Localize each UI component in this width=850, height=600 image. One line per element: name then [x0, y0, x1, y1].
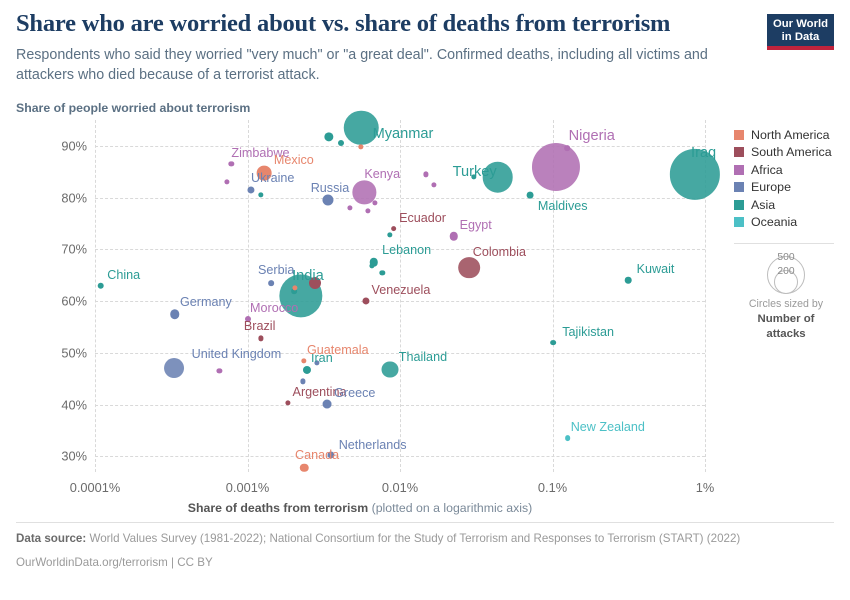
- data-point-brazil[interactable]: [258, 336, 263, 341]
- size-legend-caption: Circles sized by: [734, 298, 838, 311]
- data-point-unlabeled-16[interactable]: [309, 277, 321, 289]
- data-point-unlabeled-21[interactable]: [217, 368, 222, 373]
- legend-item-oceania[interactable]: Oceania: [734, 215, 846, 229]
- chart-header: Share who are worried about vs. share of…: [16, 10, 766, 86]
- x-axis-tick-label: 0.001%: [226, 480, 269, 495]
- data-point-unlabeled-14[interactable]: [380, 270, 385, 275]
- data-point-canada[interactable]: [300, 464, 308, 472]
- legend-item-africa[interactable]: Africa: [734, 163, 846, 177]
- data-point-unlabeled-4[interactable]: [224, 180, 229, 185]
- data-point-maldives[interactable]: [526, 192, 533, 199]
- data-point-unlabeled-3[interactable]: [358, 144, 363, 149]
- footer-link[interactable]: OurWorldinData.org/terrorism | CC BY: [16, 555, 776, 572]
- x-gridline: [95, 120, 96, 472]
- x-axis-title: Share of deaths from terrorism (plotted …: [0, 501, 720, 515]
- data-point-unlabeled-10[interactable]: [431, 182, 436, 187]
- footer-divider: [16, 522, 834, 523]
- y-axis-tick-label: 80%: [61, 190, 87, 205]
- legend-item-asia[interactable]: Asia: [734, 198, 846, 212]
- data-label-egypt: Egypt: [460, 218, 492, 232]
- data-point-germany[interactable]: [170, 309, 180, 319]
- data-point-egypt[interactable]: [449, 232, 457, 240]
- size-legend-value-inner: 200: [777, 266, 794, 277]
- data-point-unlabeled-1[interactable]: [324, 132, 333, 141]
- x-gridline: [400, 120, 401, 472]
- data-point-tajikistan[interactable]: [550, 340, 556, 346]
- y-axis-tick-label: 90%: [61, 138, 87, 153]
- data-label-russia: Russia: [311, 181, 350, 195]
- data-label-mexico: Mexico: [274, 153, 314, 167]
- data-label-greece: Greece: [334, 386, 375, 400]
- y-axis-tick-label: 60%: [61, 294, 87, 309]
- data-point-zimbabwe[interactable]: [229, 161, 234, 166]
- logo-line-1: Our World: [767, 18, 834, 31]
- data-label-new-zealand: New Zealand: [571, 420, 645, 434]
- page-title: Share who are worried about vs. share of…: [16, 10, 766, 38]
- data-point-turkey[interactable]: [482, 162, 513, 193]
- y-axis-tick-label: 70%: [61, 242, 87, 257]
- size-legend-metric-line1: Number of: [734, 312, 838, 326]
- y-axis-title: Share of people worried about terrorism: [16, 101, 250, 115]
- data-point-unlabeled-12[interactable]: [387, 232, 392, 237]
- legend-swatch-icon: [734, 147, 744, 157]
- data-label-kenya: Kenya: [364, 167, 400, 181]
- owid-logo[interactable]: Our World in Data: [767, 14, 834, 50]
- data-label-serbia: Serbia: [258, 263, 294, 277]
- legend-swatch-icon: [734, 130, 744, 140]
- x-axis-tick-label: 0.1%: [538, 480, 567, 495]
- data-point-unlabeled-11[interactable]: [564, 146, 570, 152]
- data-source-text: World Values Survey (1981-2022); Nationa…: [89, 532, 740, 545]
- data-point-unlabeled-19[interactable]: [300, 379, 305, 384]
- data-point-unlabeled-2[interactable]: [338, 140, 344, 146]
- data-label-myanmar: Myanmar: [373, 126, 434, 142]
- legend-item-label: Oceania: [751, 215, 797, 229]
- data-label-colombia: Colombia: [473, 245, 526, 259]
- y-axis-tick-label: 50%: [61, 345, 87, 360]
- data-label-thailand: Thailand: [399, 350, 447, 364]
- data-point-ecuador[interactable]: [391, 226, 397, 232]
- data-point-new-zealand[interactable]: [565, 436, 571, 442]
- data-label-nigeria: Nigeria: [569, 128, 615, 144]
- chart-subtitle: Respondents who said they worried "very …: [16, 45, 731, 86]
- x-axis-title-note: (plotted on a logarithmic axis): [372, 501, 533, 515]
- x-axis-tick-label: 0.0001%: [70, 480, 121, 495]
- logo-line-2: in Data: [767, 31, 834, 44]
- data-point-morocco[interactable]: [245, 316, 251, 322]
- legend-item-label: Asia: [751, 198, 775, 212]
- x-axis-tick-label: 1%: [696, 480, 715, 495]
- data-point-myanmar[interactable]: [344, 111, 379, 146]
- data-point-kuwait[interactable]: [625, 277, 632, 284]
- data-point-mexico[interactable]: [256, 165, 271, 180]
- continent-legend: North AmericaSouth AmericaAfricaEuropeAs…: [734, 128, 846, 232]
- data-point-iran[interactable]: [303, 365, 311, 373]
- data-point-unlabeled-9[interactable]: [423, 172, 428, 177]
- data-point-russia[interactable]: [322, 195, 333, 206]
- legend-item-label: South America: [751, 145, 832, 159]
- data-point-china[interactable]: [97, 282, 104, 289]
- data-point-ukraine[interactable]: [247, 186, 254, 193]
- data-point-unlabeled-20[interactable]: [315, 361, 320, 366]
- data-point-united-kingdom[interactable]: [165, 359, 185, 379]
- size-legend: 500 200 Circles sized by Number of attac…: [734, 252, 838, 342]
- data-point-iraq[interactable]: [669, 149, 719, 199]
- y-axis-tick-label: 40%: [61, 397, 87, 412]
- data-label-china: China: [107, 268, 140, 282]
- scatter-plot-area: 30%40%50%60%70%80%90%0.0001%0.001%0.01%0…: [95, 120, 705, 472]
- legend-swatch-icon: [734, 200, 744, 210]
- data-point-thailand[interactable]: [381, 361, 398, 378]
- data-point-nigeria[interactable]: [532, 143, 580, 191]
- data-point-greece[interactable]: [322, 399, 331, 408]
- data-point-unlabeled-7[interactable]: [373, 200, 378, 205]
- x-gridline: [248, 120, 249, 472]
- x-axis-tick-label: 0.01%: [382, 480, 418, 495]
- chart-footer: Data source: World Values Survey (1981-2…: [16, 531, 776, 572]
- data-point-guatemala[interactable]: [301, 358, 306, 363]
- legend-item-europe[interactable]: Europe: [734, 180, 846, 194]
- legend-item-label: North America: [751, 128, 830, 142]
- legend-item-north-america[interactable]: North America: [734, 128, 846, 142]
- legend-item-label: Europe: [751, 180, 791, 194]
- data-label-ecuador: Ecuador: [399, 211, 446, 225]
- data-label-zimbabwe: Zimbabwe: [231, 146, 289, 160]
- data-point-unlabeled-8[interactable]: [366, 208, 371, 213]
- data-label-netherlands: Netherlands: [339, 438, 407, 452]
- data-label-tajikistan: Tajikistan: [562, 325, 614, 339]
- data-label-maldives: Maldives: [538, 199, 588, 213]
- size-legend-metric-line2: attacks: [734, 327, 838, 341]
- x-axis-title-main: Share of deaths from terrorism: [188, 501, 368, 515]
- data-label-kuwait: Kuwait: [637, 262, 675, 276]
- legend-swatch-icon: [734, 182, 744, 192]
- size-legend-circles: 500 200: [734, 252, 838, 294]
- legend-swatch-icon: [734, 165, 744, 175]
- data-point-unlabeled-13[interactable]: [471, 174, 476, 179]
- legend-swatch-icon: [734, 217, 744, 227]
- data-label-united-kingdom: United Kingdom: [192, 347, 282, 361]
- data-label-guatemala: Guatemala: [307, 343, 369, 357]
- data-point-serbia[interactable]: [268, 280, 274, 286]
- legend-item-south-america[interactable]: South America: [734, 145, 846, 159]
- data-point-unlabeled-18[interactable]: [369, 263, 374, 268]
- data-point-colombia[interactable]: [459, 257, 481, 279]
- y-axis-tick-label: 30%: [61, 449, 87, 464]
- legend-divider: [734, 243, 834, 244]
- data-point-unlabeled-6[interactable]: [347, 205, 352, 210]
- data-point-venezuela[interactable]: [362, 298, 369, 305]
- legend-item-label: Africa: [751, 163, 783, 177]
- size-legend-value-outer: 500: [777, 252, 794, 263]
- data-label-argentina: Argentina: [293, 385, 347, 399]
- data-source-label: Data source:: [16, 532, 86, 545]
